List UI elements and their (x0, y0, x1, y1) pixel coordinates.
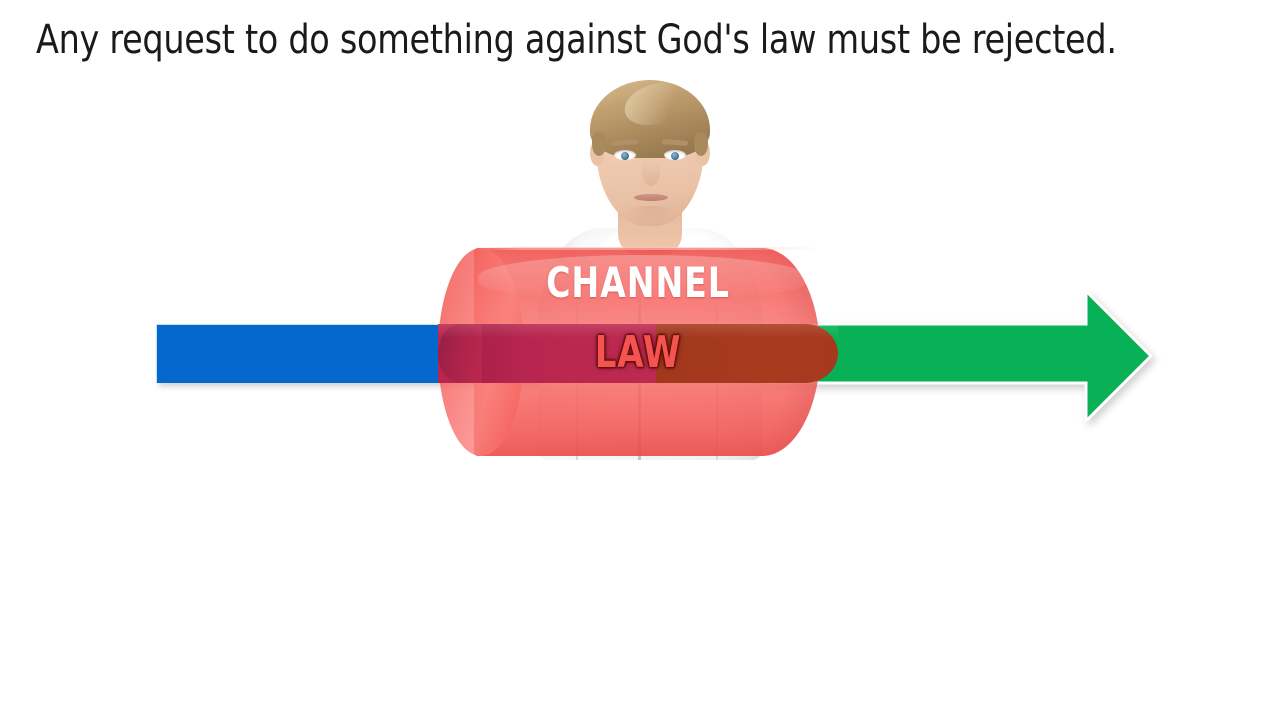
page-title: Any request to do something against God'… (36, 18, 1161, 62)
person-iris-right (671, 152, 679, 160)
person-mouth (634, 194, 668, 201)
law-label: LAW (466, 327, 810, 378)
person-nose (642, 160, 660, 186)
channel-label: CHANNEL (462, 258, 814, 307)
slide-canvas: Any request to do something against God'… (0, 0, 1280, 720)
person-sideburn-left (592, 132, 606, 156)
person-chin-shadow (624, 206, 678, 222)
cylinder-rim-light (474, 247, 822, 250)
person-iris-left (621, 152, 629, 160)
person-sideburn-right (694, 132, 708, 156)
